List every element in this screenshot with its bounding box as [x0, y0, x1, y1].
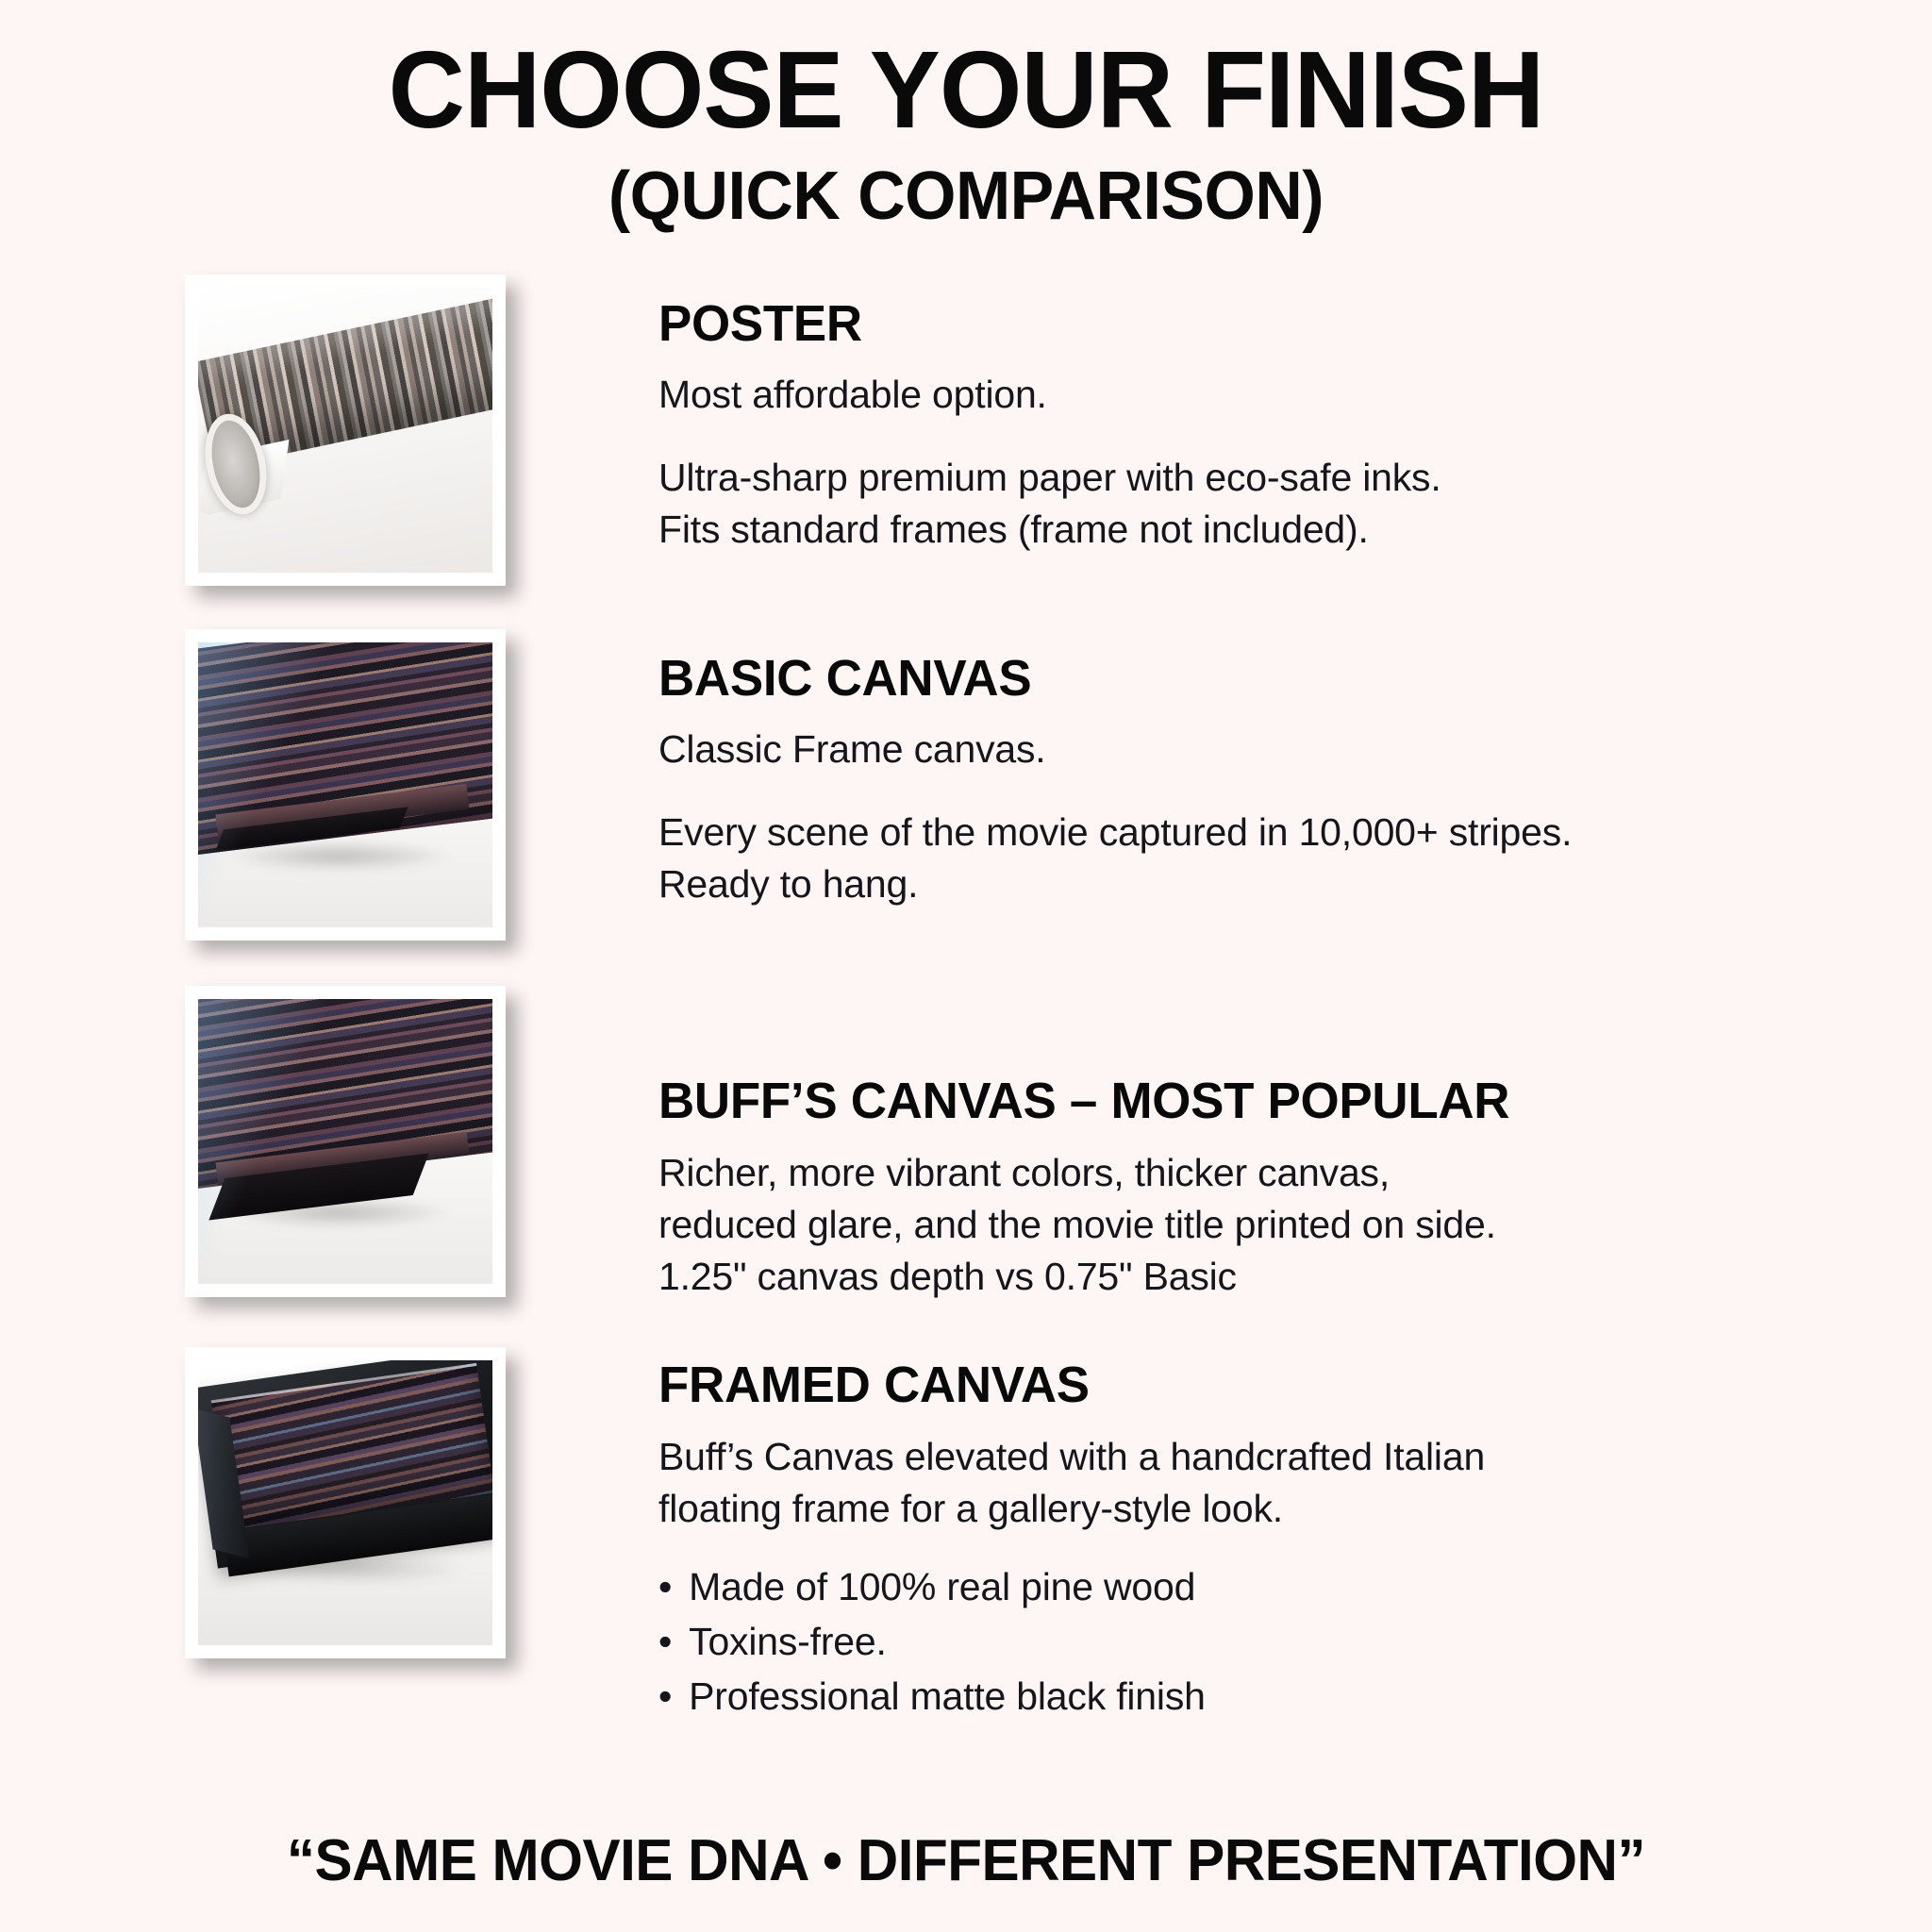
option-row-buffs-canvas: BUFF’S CANVAS – MOST POPULAR Richer, mor…: [0, 986, 1932, 1303]
canvas-drop-shadow: [227, 841, 451, 870]
frame-drop-shadow: [233, 1555, 469, 1583]
option-body-line-2: Fits standard frames (frame not included…: [658, 504, 1441, 556]
option-title: BASIC CANVAS: [658, 652, 1554, 706]
spacer: [658, 774, 1572, 807]
option-body-line-2: floating frame for a gallery-style look.: [658, 1483, 1485, 1535]
bullet-dot-icon: •: [658, 1559, 672, 1614]
list-item: • Toxins-free.: [658, 1614, 1485, 1669]
basic-canvas-image: [198, 642, 492, 927]
buffs-canvas-artwork: [198, 999, 492, 1284]
option-text-basic-canvas: BASIC CANVAS Classic Frame canvas. Every…: [506, 629, 1572, 910]
option-text-buffs-canvas: BUFF’S CANVAS – MOST POPULAR Richer, mor…: [506, 986, 1527, 1303]
framed-canvas-artwork: [198, 1360, 492, 1645]
option-lead: Classic Frame canvas.: [658, 724, 1572, 774]
list-item-label: Toxins-free.: [689, 1614, 887, 1669]
option-row-poster: POSTER Most affordable option. Ultra-sha…: [0, 275, 1932, 586]
canvas-drop-shadow: [227, 1198, 451, 1226]
list-item-label: Professional matte black finish: [689, 1669, 1206, 1724]
option-body-line-1: Ultra-sharp premium paper with eco-safe …: [658, 452, 1441, 504]
list-item: • Made of 100% real pine wood: [658, 1559, 1485, 1614]
spacer: [658, 420, 1441, 452]
option-row-framed-canvas: FRAMED CANVAS Buff’s Canvas elevated wit…: [0, 1347, 1932, 1724]
option-body-line-1: Richer, more vibrant colors, thicker can…: [658, 1147, 1527, 1199]
bullet-dot-icon: •: [658, 1669, 672, 1724]
option-body-line-3: 1.25" canvas depth vs 0.75" Basic: [658, 1251, 1527, 1303]
option-thumbnail-poster: [185, 275, 506, 586]
header: CHOOSE YOUR FINISH (QUICK COMPARISON): [0, 0, 1932, 235]
option-text-framed-canvas: FRAMED CANVAS Buff’s Canvas elevated wit…: [506, 1347, 1485, 1724]
option-body-line-2: Ready to hang.: [658, 858, 1572, 910]
list-item-label: Made of 100% real pine wood: [689, 1559, 1195, 1614]
framed-canvas-feature-list: • Made of 100% real pine wood • Toxins-f…: [658, 1559, 1485, 1724]
list-item: • Professional matte black finish: [658, 1669, 1485, 1724]
poster-roll-artwork: [198, 288, 492, 573]
buffs-canvas-image: [198, 999, 492, 1284]
comparison-infographic: CHOOSE YOUR FINISH (QUICK COMPARISON) PO…: [0, 0, 1932, 1932]
option-body-line-2: reduced glare, and the movie title print…: [658, 1199, 1527, 1251]
option-body-line-1: Every scene of the movie captured in 10,…: [658, 807, 1572, 858]
option-row-basic-canvas: BASIC CANVAS Classic Frame canvas. Every…: [0, 629, 1932, 941]
option-title: POSTER: [658, 297, 1425, 351]
page-title: CHOOSE YOUR FINISH: [29, 32, 1904, 148]
option-lead: Most affordable option.: [658, 370, 1441, 420]
option-thumbnail-framed-canvas: [185, 1347, 506, 1658]
option-text-poster: POSTER Most affordable option. Ultra-sha…: [506, 275, 1441, 556]
option-thumbnail-basic-canvas: [185, 629, 506, 941]
option-body-line-1: Buff’s Canvas elevated with a handcrafte…: [658, 1431, 1485, 1483]
option-title: FRAMED CANVAS: [658, 1358, 1469, 1412]
basic-canvas-artwork: [198, 642, 492, 927]
options-list: POSTER Most affordable option. Ultra-sha…: [0, 275, 1932, 1724]
bullet-dot-icon: •: [658, 1614, 672, 1669]
framed-canvas-image: [198, 1360, 492, 1645]
option-thumbnail-buffs-canvas: [185, 986, 506, 1297]
page-subtitle: (QUICK COMPARISON): [29, 158, 1904, 235]
option-title: BUFF’S CANVAS – MOST POPULAR: [658, 1074, 1509, 1128]
poster-roll-image: [198, 288, 492, 573]
footer-tagline: “SAME MOVIE DNA • DIFFERENT PRESENTATION…: [29, 1827, 1904, 1894]
